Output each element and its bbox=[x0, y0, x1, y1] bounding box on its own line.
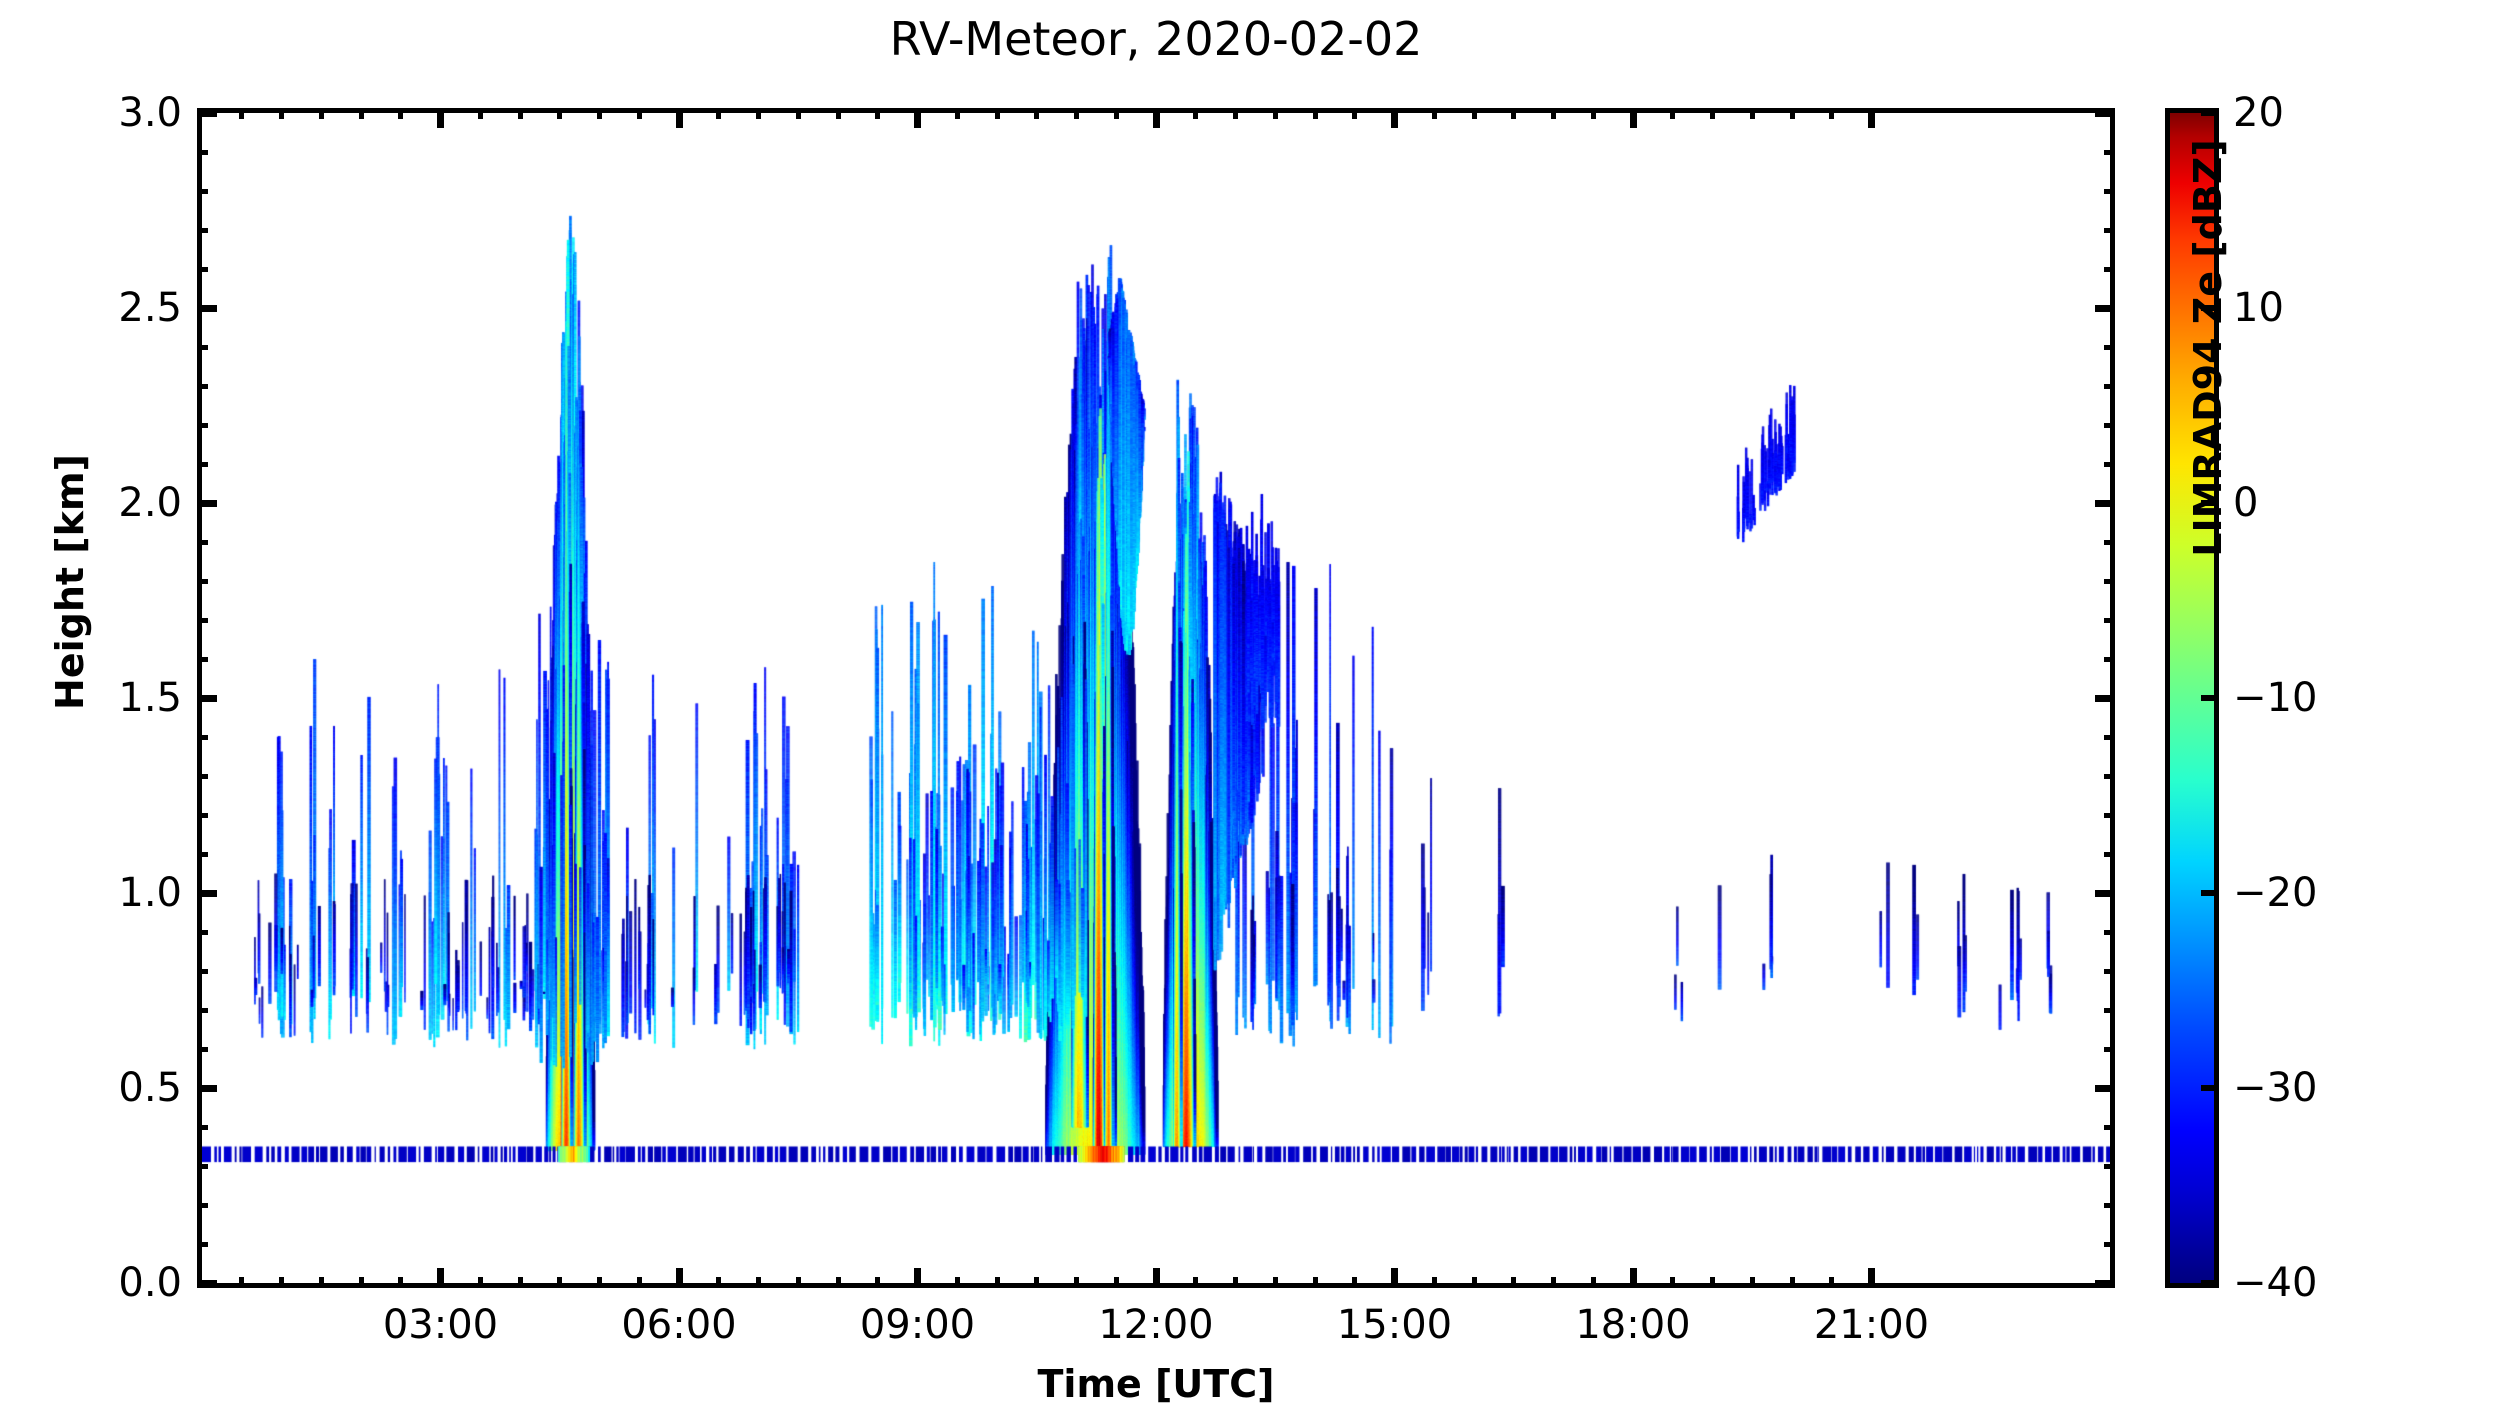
y-tick-minor bbox=[197, 345, 208, 350]
x-tick-minor-top bbox=[1352, 108, 1357, 119]
x-tick-major bbox=[1630, 1268, 1637, 1288]
x-tick-major bbox=[1153, 1268, 1160, 1288]
x-tick-minor-top bbox=[875, 108, 880, 119]
x-tick-label: 12:00 bbox=[1098, 1302, 1213, 1348]
y-tick-label: 0.5 bbox=[0, 1065, 182, 1111]
y-tick-minor-right bbox=[2104, 774, 2115, 779]
x-tick-minor-top bbox=[1511, 108, 1516, 119]
x-tick-minor-top bbox=[1114, 108, 1119, 119]
x-tick-minor bbox=[1829, 1277, 1834, 1288]
x-tick-minor-top bbox=[1551, 108, 1556, 119]
x-tick-minor bbox=[756, 1277, 761, 1288]
x-tick-minor-top bbox=[1273, 108, 1278, 119]
y-tick-major-right bbox=[2095, 110, 2115, 117]
x-tick-major bbox=[437, 1268, 444, 1288]
y-tick-minor bbox=[197, 267, 208, 272]
y-tick-minor-right bbox=[2104, 462, 2115, 467]
y-tick-minor-right bbox=[2104, 189, 2115, 194]
x-tick-minor bbox=[1710, 1277, 1715, 1288]
y-axis-label: Height [km] bbox=[48, 332, 92, 832]
y-tick-minor-right bbox=[2104, 618, 2115, 623]
y-tick-minor-right bbox=[2104, 150, 2115, 155]
y-tick-minor bbox=[197, 228, 208, 233]
x-tick-minor-top bbox=[756, 108, 761, 119]
x-tick-minor bbox=[875, 1277, 880, 1288]
colorbar-tick-label: 10 bbox=[2233, 285, 2284, 331]
y-tick-label: 2.5 bbox=[0, 285, 182, 331]
colorbar-label: LIMRAD94 Ze [dBZ] bbox=[2186, 0, 2230, 698]
x-tick-major-top bbox=[914, 108, 921, 128]
x-tick-minor-top bbox=[557, 108, 562, 119]
x-tick-minor bbox=[1591, 1277, 1596, 1288]
plot-area bbox=[197, 108, 2115, 1288]
x-tick-minor-top bbox=[279, 108, 284, 119]
y-tick-minor-right bbox=[2104, 735, 2115, 740]
y-tick-major bbox=[197, 305, 217, 312]
y-tick-minor-right bbox=[2104, 1125, 2115, 1130]
x-tick-minor bbox=[1034, 1277, 1039, 1288]
y-tick-minor bbox=[197, 384, 208, 389]
y-tick-major bbox=[197, 1280, 217, 1287]
x-tick-minor bbox=[1511, 1277, 1516, 1288]
y-tick-minor-right bbox=[2104, 813, 2115, 818]
y-tick-minor bbox=[197, 618, 208, 623]
y-tick-major bbox=[197, 110, 217, 117]
x-tick-minor bbox=[1074, 1277, 1079, 1288]
y-tick-minor bbox=[197, 1203, 208, 1208]
y-tick-label: 0.0 bbox=[0, 1260, 182, 1306]
x-tick-major-top bbox=[437, 108, 444, 128]
colorbar-tick-label: −40 bbox=[2233, 1260, 2317, 1306]
x-tick-major bbox=[914, 1268, 921, 1288]
x-tick-minor-top bbox=[319, 108, 324, 119]
y-tick-major-right bbox=[2095, 695, 2115, 702]
x-tick-minor bbox=[518, 1277, 523, 1288]
y-tick-minor bbox=[197, 852, 208, 857]
x-tick-minor bbox=[1551, 1277, 1556, 1288]
x-tick-minor-top bbox=[398, 108, 403, 119]
x-tick-minor-top bbox=[1193, 108, 1198, 119]
x-tick-label: 06:00 bbox=[621, 1302, 736, 1348]
y-tick-major-right bbox=[2095, 1085, 2115, 1092]
x-tick-minor-top bbox=[239, 108, 244, 119]
y-tick-minor bbox=[197, 1242, 208, 1247]
y-tick-major bbox=[197, 890, 217, 897]
y-tick-minor-right bbox=[2104, 540, 2115, 545]
x-tick-minor bbox=[1790, 1277, 1795, 1288]
y-tick-minor-right bbox=[2104, 1047, 2115, 1052]
x-tick-minor-top bbox=[478, 108, 483, 119]
x-tick-minor-top bbox=[637, 108, 642, 119]
x-tick-minor bbox=[1432, 1277, 1437, 1288]
x-tick-minor bbox=[1352, 1277, 1357, 1288]
x-tick-minor bbox=[1313, 1277, 1318, 1288]
y-tick-minor bbox=[197, 462, 208, 467]
y-tick-major bbox=[197, 1085, 217, 1092]
y-tick-minor-right bbox=[2104, 657, 2115, 662]
x-tick-minor bbox=[478, 1277, 483, 1288]
x-tick-label: 09:00 bbox=[860, 1302, 975, 1348]
x-tick-minor-top bbox=[597, 108, 602, 119]
colorbar-tick-label: 0 bbox=[2233, 480, 2258, 526]
x-tick-minor bbox=[995, 1277, 1000, 1288]
y-tick-minor-right bbox=[2104, 384, 2115, 389]
y-tick-minor-right bbox=[2104, 852, 2115, 857]
colorbar-tick-label: −20 bbox=[2233, 870, 2317, 916]
x-tick-minor-top bbox=[716, 108, 721, 119]
y-tick-minor-right bbox=[2104, 1203, 2115, 1208]
x-tick-minor bbox=[836, 1277, 841, 1288]
x-tick-minor-top bbox=[955, 108, 960, 119]
x-tick-major-top bbox=[1153, 108, 1160, 128]
x-tick-major-top bbox=[676, 108, 683, 128]
y-tick-label: 1.0 bbox=[0, 870, 182, 916]
y-tick-minor bbox=[197, 423, 208, 428]
x-tick-minor bbox=[796, 1277, 801, 1288]
y-tick-minor bbox=[197, 813, 208, 818]
x-tick-minor bbox=[1193, 1277, 1198, 1288]
colorbar-tick-label: 20 bbox=[2233, 90, 2284, 136]
page-title: RV-Meteor, 2020-02-02 bbox=[197, 12, 2115, 66]
x-tick-major bbox=[1391, 1268, 1398, 1288]
x-tick-label: 21:00 bbox=[1814, 1302, 1929, 1348]
y-tick-minor bbox=[197, 1164, 208, 1169]
x-tick-minor bbox=[1114, 1277, 1119, 1288]
x-tick-major bbox=[676, 1268, 683, 1288]
x-tick-minor bbox=[1472, 1277, 1477, 1288]
x-tick-minor-top bbox=[1710, 108, 1715, 119]
x-axis-label: Time [UTC] bbox=[197, 1362, 2115, 1406]
x-tick-minor bbox=[359, 1277, 364, 1288]
colorbar-tick-label: −10 bbox=[2233, 675, 2317, 721]
y-tick-minor bbox=[197, 735, 208, 740]
x-tick-minor bbox=[239, 1277, 244, 1288]
x-tick-minor bbox=[1750, 1277, 1755, 1288]
x-tick-minor-top bbox=[1074, 108, 1079, 119]
x-tick-major-top bbox=[1868, 108, 1875, 128]
y-tick-minor bbox=[197, 579, 208, 584]
x-tick-minor-top bbox=[1233, 108, 1238, 119]
y-tick-minor bbox=[197, 969, 208, 974]
x-tick-minor bbox=[716, 1277, 721, 1288]
y-tick-minor bbox=[197, 1047, 208, 1052]
y-tick-minor bbox=[197, 150, 208, 155]
x-tick-minor-top bbox=[836, 108, 841, 119]
x-tick-minor-top bbox=[1670, 108, 1675, 119]
x-tick-minor-top bbox=[1591, 108, 1596, 119]
colorbar-tick bbox=[2201, 890, 2219, 896]
x-tick-label: 18:00 bbox=[1575, 1302, 1690, 1348]
x-tick-major-top bbox=[1630, 108, 1637, 128]
x-tick-minor bbox=[557, 1277, 562, 1288]
x-tick-minor-top bbox=[1432, 108, 1437, 119]
x-tick-minor bbox=[319, 1277, 324, 1288]
y-tick-major-right bbox=[2095, 890, 2115, 897]
x-tick-minor bbox=[955, 1277, 960, 1288]
x-tick-minor bbox=[398, 1277, 403, 1288]
y-tick-minor bbox=[197, 189, 208, 194]
y-tick-minor-right bbox=[2104, 930, 2115, 935]
x-tick-minor-top bbox=[1790, 108, 1795, 119]
radar-heatmap bbox=[202, 113, 2110, 1283]
y-tick-minor-right bbox=[2104, 345, 2115, 350]
y-tick-major bbox=[197, 500, 217, 507]
x-tick-major bbox=[1868, 1268, 1875, 1288]
y-tick-minor-right bbox=[2104, 1164, 2115, 1169]
y-tick-minor-right bbox=[2104, 579, 2115, 584]
y-tick-major-right bbox=[2095, 305, 2115, 312]
x-tick-minor-top bbox=[1034, 108, 1039, 119]
x-tick-minor-top bbox=[1750, 108, 1755, 119]
y-tick-minor-right bbox=[2104, 267, 2115, 272]
x-tick-label: 03:00 bbox=[383, 1302, 498, 1348]
y-tick-minor bbox=[197, 540, 208, 545]
y-tick-minor bbox=[197, 1125, 208, 1130]
x-tick-minor-top bbox=[995, 108, 1000, 119]
x-tick-minor-top bbox=[359, 108, 364, 119]
x-tick-label: 15:00 bbox=[1337, 1302, 1452, 1348]
x-tick-minor-top bbox=[1313, 108, 1318, 119]
y-tick-minor-right bbox=[2104, 969, 2115, 974]
x-tick-minor-top bbox=[796, 108, 801, 119]
colorbar-tick bbox=[2201, 1280, 2219, 1286]
x-tick-major-top bbox=[1391, 108, 1398, 128]
y-tick-minor-right bbox=[2104, 228, 2115, 233]
x-tick-minor bbox=[1273, 1277, 1278, 1288]
y-tick-major-right bbox=[2095, 500, 2115, 507]
x-tick-minor-top bbox=[1829, 108, 1834, 119]
y-tick-minor-right bbox=[2104, 423, 2115, 428]
y-tick-label: 3.0 bbox=[0, 90, 182, 136]
x-tick-minor-top bbox=[518, 108, 523, 119]
y-tick-minor-right bbox=[2104, 1242, 2115, 1247]
figure-canvas: RV-Meteor, 2020-02-02 03:0006:0009:0012:… bbox=[0, 0, 2500, 1425]
y-tick-major-right bbox=[2095, 1280, 2115, 1287]
x-tick-minor-top bbox=[1472, 108, 1477, 119]
y-tick-minor bbox=[197, 1008, 208, 1013]
x-tick-minor bbox=[1233, 1277, 1238, 1288]
y-tick-major bbox=[197, 695, 217, 702]
y-tick-minor-right bbox=[2104, 1008, 2115, 1013]
x-tick-minor bbox=[279, 1277, 284, 1288]
x-tick-minor bbox=[597, 1277, 602, 1288]
y-tick-minor bbox=[197, 657, 208, 662]
y-tick-minor bbox=[197, 930, 208, 935]
colorbar-tick-label: −30 bbox=[2233, 1065, 2317, 1111]
x-tick-minor bbox=[637, 1277, 642, 1288]
colorbar-tick bbox=[2201, 1085, 2219, 1091]
x-tick-minor bbox=[1670, 1277, 1675, 1288]
y-tick-minor bbox=[197, 774, 208, 779]
